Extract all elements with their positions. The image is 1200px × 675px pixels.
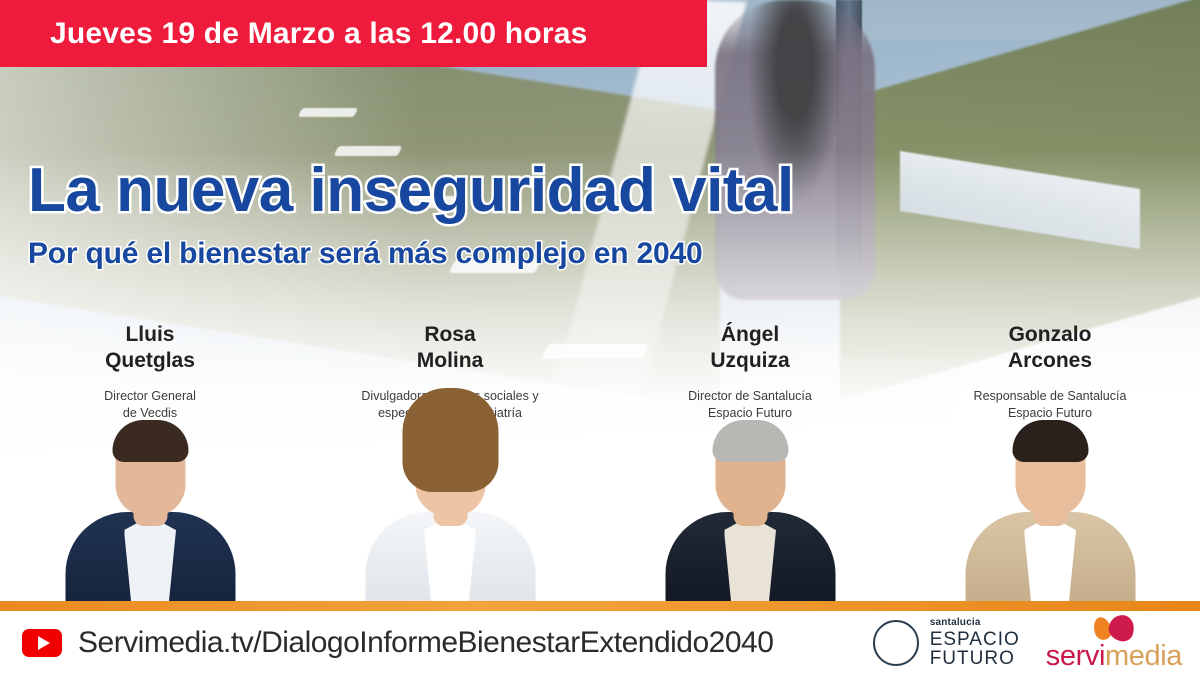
speaker-first-name: Rosa [424,323,475,346]
portrait-shirt [724,516,776,604]
circle-icon [873,620,919,666]
portrait-hair [712,420,788,462]
portrait-shirt [124,516,176,604]
speaker-role-line2: Espacio Futuro [1008,406,1092,420]
speaker-first-name: Ángel [721,323,779,346]
headline-block: La nueva inseguridad vital Por qué el bi… [28,158,1108,271]
servimedia-part1: servi [1046,640,1105,672]
youtube-icon[interactable] [22,629,62,657]
speaker-portrait [658,432,843,604]
portrait-shirt [1024,516,1076,604]
speaker-name: Ángel Uzquiza [710,322,789,374]
santalucia-line1: ESPACIO [930,630,1020,649]
speaker-portrait [58,432,243,604]
event-poster: Jueves 19 de Marzo a las 12.00 horas La … [0,0,1200,675]
speakers-row: Lluis Quetglas Director General de Vecdi… [0,322,1200,604]
orange-divider [0,601,1200,611]
speaker-role-line1: Responsable de Santalucía [974,389,1127,403]
speaker-role-line2: Espacio Futuro [708,406,792,420]
page-title: La nueva inseguridad vital [28,158,1108,223]
play-triangle-icon [38,636,50,650]
speaker-portrait [958,432,1143,604]
portrait-hair [112,420,188,462]
speaker-last-name: Molina [417,349,484,372]
portrait-shirt [424,516,476,604]
speaker-card: Lluis Quetglas Director General de Vecdi… [0,322,300,604]
speaker-card: Rosa Molina Divulgadora en redes sociale… [300,322,600,604]
santalucia-line2: FUTURO [930,649,1020,668]
servimedia-logo: servimedia [1046,615,1182,671]
speaker-role-line2: de Vecdis [123,406,177,420]
servimedia-part2: media [1105,640,1182,672]
speaker-name: Gonzalo Arcones [1008,322,1092,374]
date-banner-text: Jueves 19 de Marzo a las 12.00 horas [0,17,588,51]
heart-right-lobe [1106,612,1137,643]
speaker-portrait [358,432,543,604]
servimedia-wordmark: servimedia [1046,642,1182,671]
speaker-last-name: Arcones [1008,349,1092,372]
speaker-card: Gonzalo Arcones Responsable de Santalucí… [900,322,1200,604]
date-banner: Jueves 19 de Marzo a las 12.00 horas [0,0,707,67]
speaker-role-line1: Director de Santalucía [688,389,812,403]
speaker-role: Responsable de Santalucía Espacio Futuro [974,388,1127,423]
page-subtitle: Por qué el bienestar será más complejo e… [28,237,1108,271]
speaker-name: Rosa Molina [417,322,484,374]
footer-logos: santalucia ESPACIO FUTURO servimedia [873,615,1182,671]
footer-bar: Servimedia.tv/DialogoInformeBienestarExt… [0,611,1200,675]
stream-url-link[interactable]: Servimedia.tv/DialogoInformeBienestarExt… [78,626,773,660]
santalucia-brand: santalucia [930,618,1020,628]
speaker-last-name: Uzquiza [710,349,789,372]
speaker-role: Director de Santalucía Espacio Futuro [688,388,812,423]
speaker-card: Ángel Uzquiza Director de Santalucía Esp… [600,322,900,604]
santalucia-espacio-futuro-logo: santalucia ESPACIO FUTURO [873,618,1020,669]
santalucia-logo-text: santalucia ESPACIO FUTURO [930,618,1020,669]
portrait-hair [402,388,498,492]
speaker-name: Lluis Quetglas [105,322,195,374]
portrait-hair [1012,420,1088,462]
heart-icon [1091,615,1137,641]
speaker-first-name: Lluis [125,323,174,346]
speaker-first-name: Gonzalo [1009,323,1092,346]
speaker-last-name: Quetglas [105,349,195,372]
speaker-role: Director General de Vecdis [104,388,196,423]
speaker-role-line1: Director General [104,389,196,403]
